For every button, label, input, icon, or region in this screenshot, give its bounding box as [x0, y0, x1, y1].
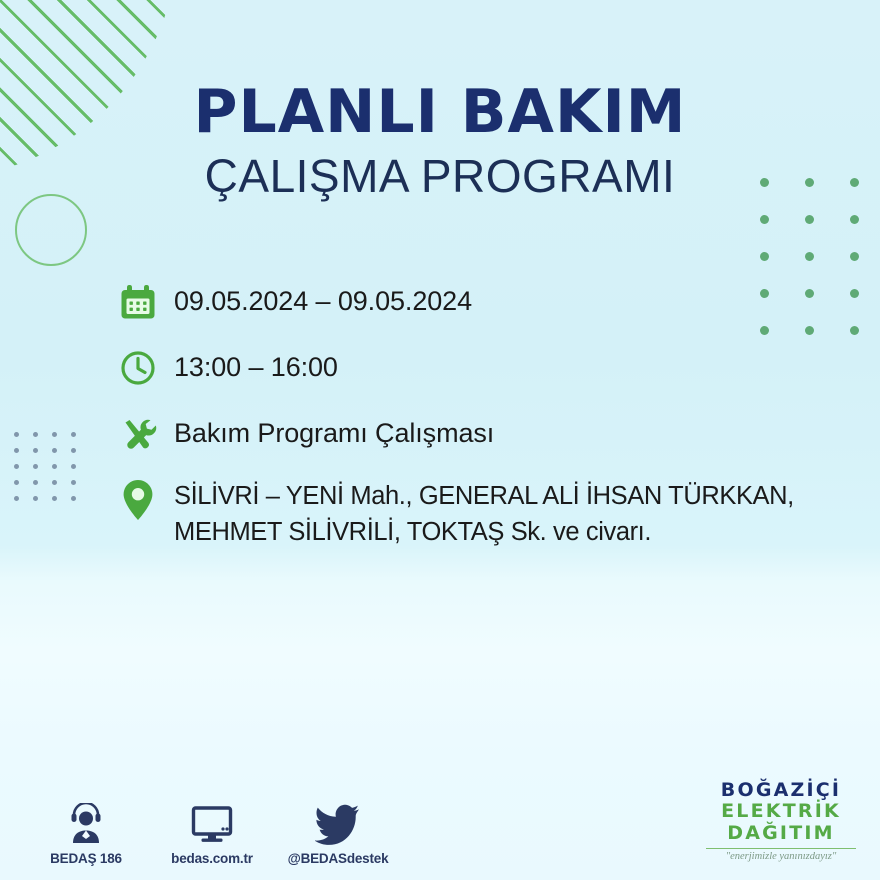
- contact-website-label: bedas.com.tr: [171, 851, 253, 866]
- monitor-icon: [190, 799, 234, 845]
- decoration-dot: [14, 480, 19, 485]
- decoration-dot: [33, 464, 38, 469]
- calendar-icon: [118, 278, 174, 326]
- contact-phone[interactable]: BEDAŞ 186: [38, 799, 134, 866]
- clock-icon: [118, 344, 174, 392]
- poster-canvas: PLANLI BAKIM ÇALIŞMA PROGRAMI: [0, 0, 880, 880]
- decoration-dot: [850, 252, 859, 261]
- decoration-dot: [52, 448, 57, 453]
- decoration-dot: [71, 464, 76, 469]
- maintenance-details: 09.05.2024 – 09.05.2024 13:00 – 16:00: [118, 278, 878, 550]
- bedas-logo: BOĞAZİÇİ ELEKTRİK DAĞITIM "enerjimizle y…: [696, 780, 866, 862]
- detail-row-work-type: Bakım Programı Çalışması: [118, 410, 878, 458]
- brand-divider: [706, 848, 856, 849]
- time-range-value: 13:00 – 16:00: [174, 344, 338, 386]
- detail-row-time: 13:00 – 16:00: [118, 344, 878, 392]
- decoration-dot: [33, 480, 38, 485]
- dot-grid-left-decoration: [14, 432, 84, 502]
- decoration-dot: [33, 448, 38, 453]
- brand-line-2: ELEKTRİK: [696, 801, 866, 822]
- twitter-bird-icon: [315, 799, 361, 845]
- work-type-value: Bakım Programı Çalışması: [174, 410, 494, 452]
- decoration-dot: [14, 448, 19, 453]
- decoration-dot: [52, 480, 57, 485]
- decoration-dot: [805, 252, 814, 261]
- decoration-dot: [52, 432, 57, 437]
- decoration-dot: [52, 496, 57, 501]
- page-title: PLANLI BAKIM: [0, 82, 880, 143]
- decoration-dot: [71, 496, 76, 501]
- page-subtitle: ÇALIŞMA PROGRAMI: [0, 151, 880, 202]
- poster-footer: BEDAŞ 186 bedas.com.tr: [0, 760, 880, 880]
- decoration-dot: [33, 432, 38, 437]
- decoration-dot: [33, 496, 38, 501]
- call-center-agent-icon: [65, 799, 107, 845]
- tools-icon: [118, 410, 174, 458]
- decoration-dot: [14, 432, 19, 437]
- decoration-dot: [850, 215, 859, 224]
- brand-line-3: DAĞITIM: [696, 823, 866, 844]
- contact-twitter-label: @BEDASdestek: [288, 851, 389, 866]
- decoration-dot: [760, 252, 769, 261]
- decoration-dot: [760, 215, 769, 224]
- brand-tagline: "enerjimizle yanınızdayız": [696, 851, 866, 862]
- brand-line-1: BOĞAZİÇİ: [696, 780, 866, 801]
- map-pin-icon: [118, 476, 174, 524]
- decoration-dot: [71, 432, 76, 437]
- decoration-dot: [14, 464, 19, 469]
- decoration-dot: [14, 496, 19, 501]
- decoration-dot: [805, 215, 814, 224]
- contact-channels: BEDAŞ 186 bedas.com.tr: [38, 799, 386, 866]
- location-value: SİLİVRİ – YENİ Mah., GENERAL ALİ İHSAN T…: [174, 476, 794, 550]
- contact-twitter[interactable]: @BEDASdestek: [290, 799, 386, 866]
- contact-website[interactable]: bedas.com.tr: [164, 799, 260, 866]
- date-range-value: 09.05.2024 – 09.05.2024: [174, 278, 472, 320]
- poster-header: PLANLI BAKIM ÇALIŞMA PROGRAMI: [0, 82, 880, 202]
- location-line-2: MEHMET SİLİVRİLİ, TOKTAŞ Sk. ve civarı.: [174, 514, 794, 550]
- decoration-dot: [71, 480, 76, 485]
- detail-row-location: SİLİVRİ – YENİ Mah., GENERAL ALİ İHSAN T…: [118, 476, 878, 550]
- circle-outline-decoration: [15, 194, 87, 266]
- decoration-dot: [71, 448, 76, 453]
- decoration-dot: [52, 464, 57, 469]
- detail-row-date: 09.05.2024 – 09.05.2024: [118, 278, 878, 326]
- location-line-1: SİLİVRİ – YENİ Mah., GENERAL ALİ İHSAN T…: [174, 478, 794, 514]
- contact-phone-label: BEDAŞ 186: [50, 851, 122, 866]
